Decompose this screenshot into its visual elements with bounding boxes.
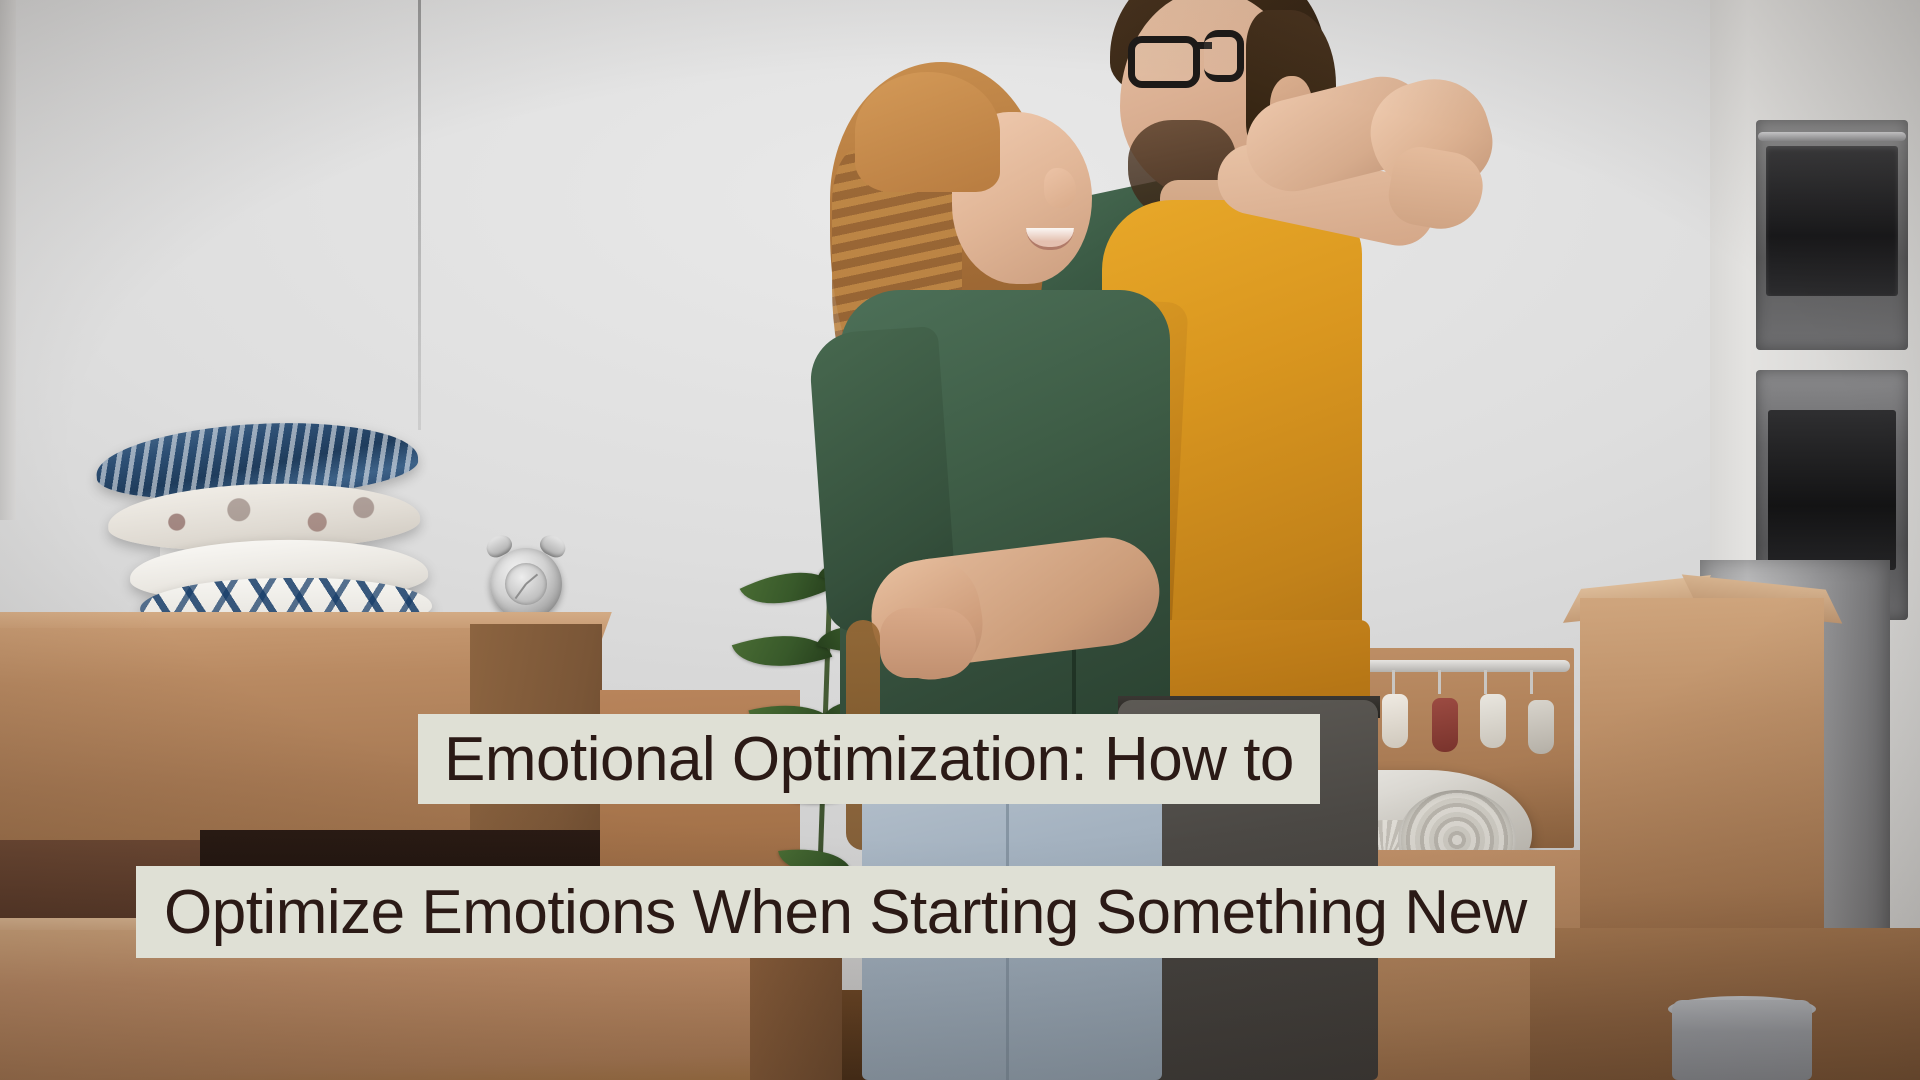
hero-image-canvas: Emotional Optimization: How to Optimize … [0,0,1920,1080]
title-line-1: Emotional Optimization: How to [418,714,1320,804]
title-line-2: Optimize Emotions When Starting Somethin… [136,866,1555,958]
man-fingers [880,608,976,678]
man-glasses-left-lens-icon [1128,36,1200,88]
man-glasses-right-lens-icon [1204,30,1244,82]
woman-hair-fringe [855,72,1000,192]
